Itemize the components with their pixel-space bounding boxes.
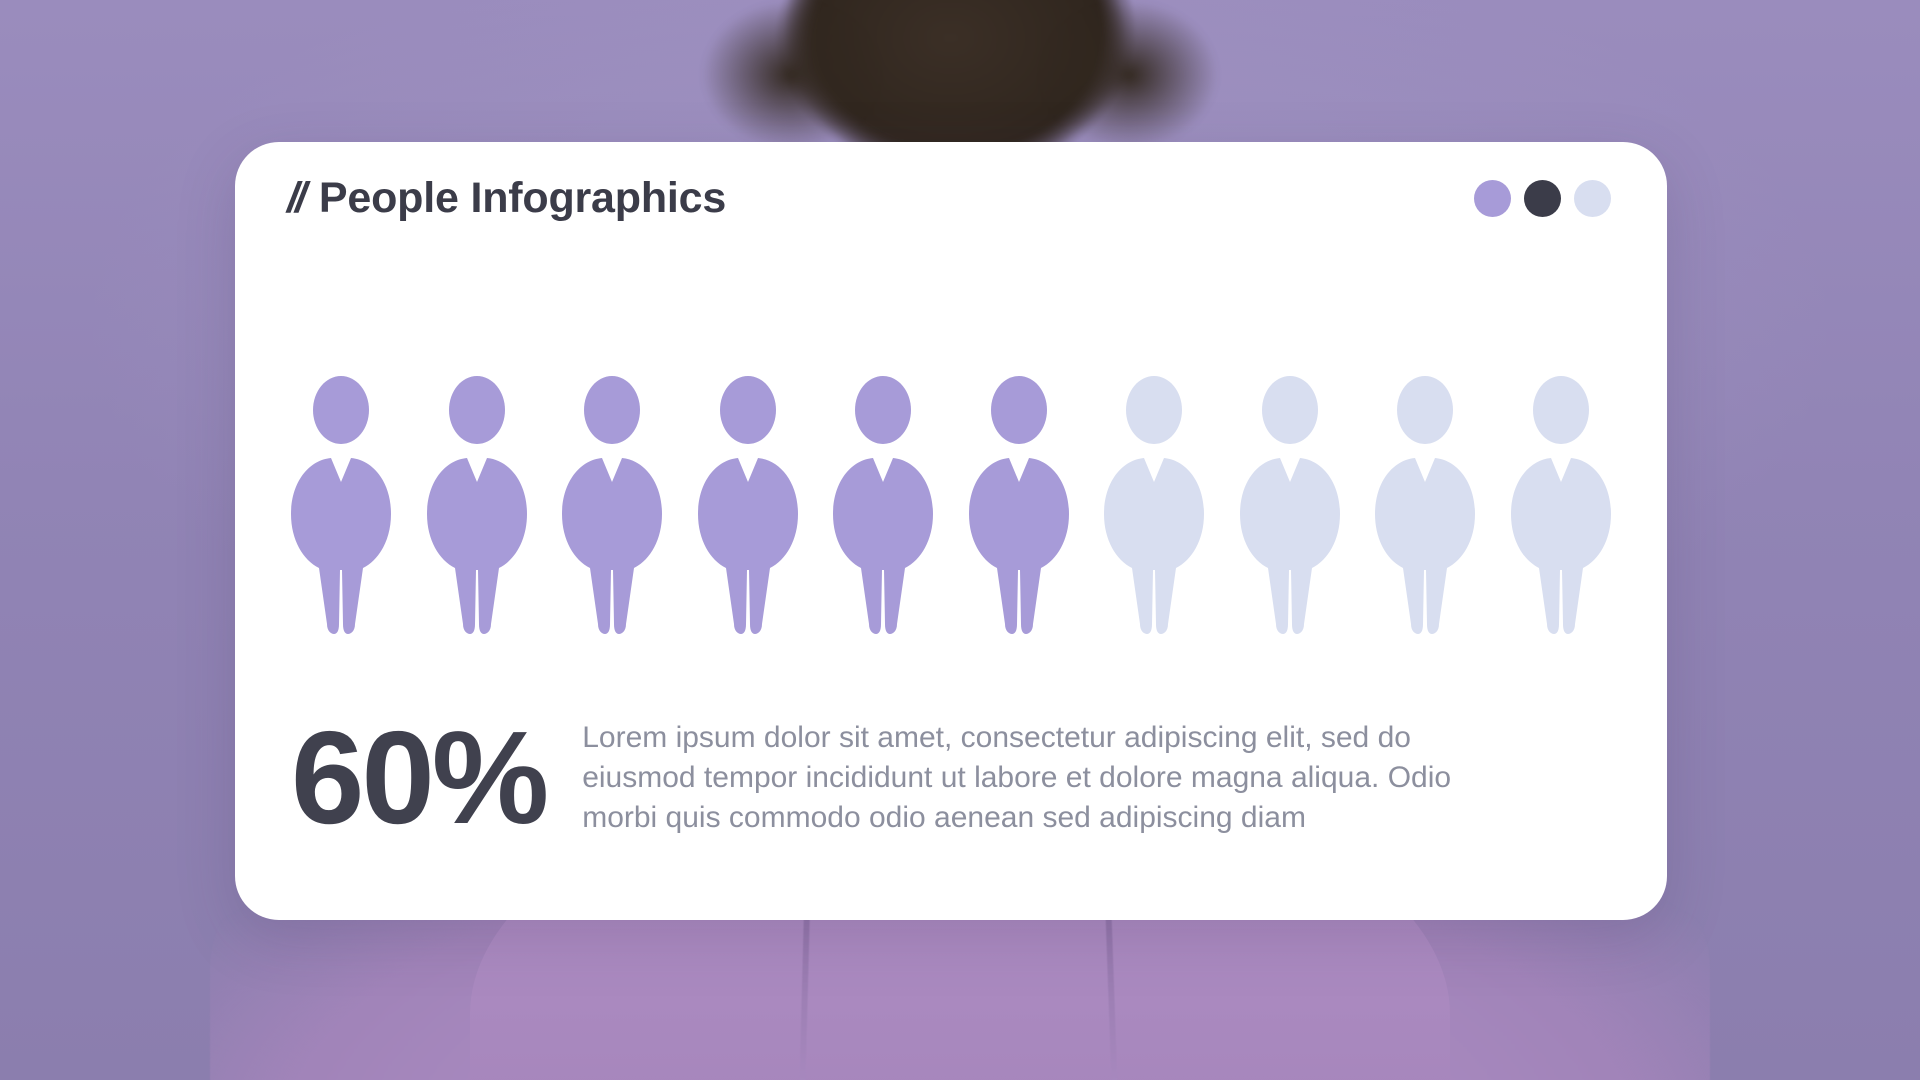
person-icon	[1371, 374, 1479, 636]
page-title-text: People Infographics	[319, 174, 726, 223]
dot-light[interactable]	[1574, 180, 1611, 217]
person-icon	[965, 374, 1073, 636]
pictogram-chart	[287, 374, 1615, 636]
person-icon	[694, 374, 802, 636]
infographic-card: // People Infographics 60% Lorem ipsum d…	[235, 142, 1667, 920]
slashes-accent: //	[287, 174, 303, 223]
person-icon	[287, 374, 395, 636]
dot-purple[interactable]	[1474, 180, 1511, 217]
person-icon	[558, 374, 666, 636]
stat-row: 60% Lorem ipsum dolor sit amet, consecte…	[291, 710, 1611, 840]
dot-indicators	[1474, 180, 1611, 217]
page-title: // People Infographics	[287, 174, 726, 223]
dot-dark[interactable]	[1524, 180, 1561, 217]
person-icon	[829, 374, 937, 636]
person-icon	[1100, 374, 1208, 636]
person-icon	[1507, 374, 1615, 636]
card-header: // People Infographics	[235, 142, 1667, 254]
stat-value: 60%	[291, 710, 546, 840]
person-icon	[1236, 374, 1344, 636]
stat-description: Lorem ipsum dolor sit amet, consectetur …	[582, 710, 1462, 839]
person-icon	[423, 374, 531, 636]
